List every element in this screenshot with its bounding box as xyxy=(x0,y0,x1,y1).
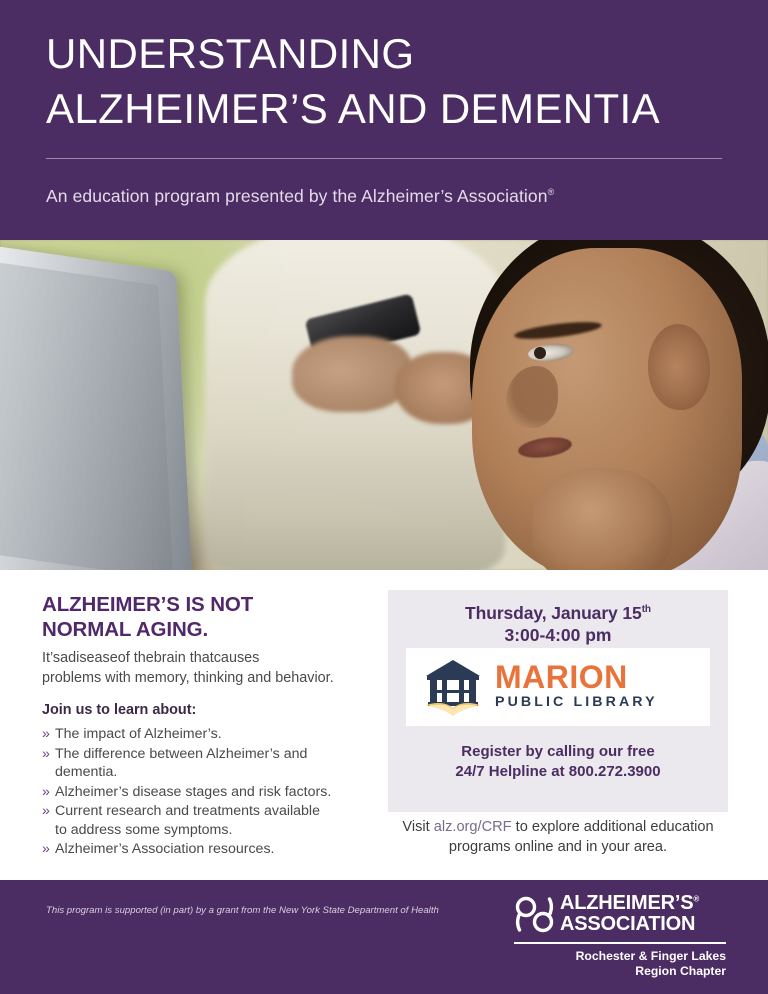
page-title: UNDERSTANDING ALZHEIMER’S AND DEMENTIA xyxy=(46,26,726,137)
chevron-bullet-icon: » xyxy=(42,802,50,821)
flyer-header: UNDERSTANDING ALZHEIMER’S AND DEMENTIA A… xyxy=(0,0,768,240)
list-item: »Alzheimer’s disease stages and risk fac… xyxy=(42,783,378,802)
photo-woman-pupil xyxy=(534,347,546,359)
learn-list: »The impact of Alzheimer’s. »The differe… xyxy=(42,725,378,859)
list-item-label: Current research and treatments availabl… xyxy=(55,803,320,838)
header-subtitle: An education program presented by the Al… xyxy=(46,186,554,207)
event-date-text: Thursday, January 15 xyxy=(465,603,642,623)
photo-woman-ear xyxy=(648,324,710,410)
gazebo-with-open-book-icon xyxy=(420,656,486,718)
photo-woman-fist xyxy=(532,468,672,570)
event-time: 3:00-4:00 pm xyxy=(406,624,710,647)
chevron-bullet-icon: » xyxy=(42,783,50,802)
flyer-page: UNDERSTANDING ALZHEIMER’S AND DEMENTIA A… xyxy=(0,0,768,994)
list-item: »Alzheimer’s Association resources. xyxy=(42,840,378,859)
alz-org-link[interactable]: alz.org/CRF xyxy=(434,819,512,835)
chevron-bullet-icon: » xyxy=(42,745,50,764)
assoc-logo-top: ALZHEIMER’S® ASSOCIATION xyxy=(514,892,726,936)
list-item-label: Alzheimer’s Association resources. xyxy=(55,841,274,857)
chevron-bullet-icon: » xyxy=(42,725,50,744)
venue-wordmark: MARION PUBLIC LIBRARY xyxy=(495,662,658,711)
list-item-label: The impact of Alzheimer’s. xyxy=(55,726,222,742)
registered-mark: ® xyxy=(548,187,555,197)
assoc-chapter-name: Rochester & Finger Lakes Region Chapter xyxy=(514,949,726,980)
main-content: ALZHEIMER’S IS NOT NORMAL AGING. It’sadi… xyxy=(0,570,768,880)
list-item: »Current research and treatments availab… xyxy=(42,802,378,840)
lead-heading: ALZHEIMER’S IS NOT NORMAL AGING. xyxy=(42,592,378,642)
list-item: »The impact of Alzheimer’s. xyxy=(42,725,378,744)
list-item: »The difference between Alzheimer’s and … xyxy=(42,745,378,783)
hero-photo xyxy=(0,240,768,570)
flyer-footer: This program is supported (in part) by a… xyxy=(0,880,768,994)
venue-name-sub: PUBLIC LIBRARY xyxy=(495,694,658,711)
event-details-panel: Thursday, January 15th 3:00-4:00 pm xyxy=(388,590,728,812)
photo-hand-left xyxy=(292,336,412,412)
venue-name-main: MARION xyxy=(495,659,628,695)
venue-logo: MARION PUBLIC LIBRARY xyxy=(406,648,710,726)
chevron-bullet-icon: » xyxy=(42,840,50,859)
learn-list-heading: Join us to learn about: xyxy=(42,702,378,718)
register-instructions: Register by calling our free 24/7 Helpli… xyxy=(388,742,728,783)
list-item-label: The difference between Alzheimer’s and d… xyxy=(55,746,307,781)
assoc-logo-divider xyxy=(514,942,726,944)
event-date: Thursday, January 15th xyxy=(406,602,710,625)
alzheimers-association-logo: ALZHEIMER’S® ASSOCIATION Rochester & Fin… xyxy=(514,892,726,979)
assoc-name-line2: ASSOCIATION xyxy=(560,914,699,934)
registered-mark: ® xyxy=(693,895,699,904)
hero-photo-scene xyxy=(0,240,768,570)
lead-body: It’sadiseaseof thebrain thatcauses probl… xyxy=(42,649,378,688)
visit-prefix: Visit xyxy=(402,819,433,835)
assoc-name-line1-text: ALZHEIMER’S xyxy=(560,892,693,914)
visit-website-line: Visit alz.org/CRF to explore additional … xyxy=(388,818,728,858)
list-item-label: Alzheimer’s disease stages and risk fact… xyxy=(55,784,331,800)
info-column: ALZHEIMER’S IS NOT NORMAL AGING. It’sadi… xyxy=(42,592,378,860)
grant-disclaimer: This program is supported (in part) by a… xyxy=(46,905,476,917)
assoc-wordmark: ALZHEIMER’S® ASSOCIATION xyxy=(560,894,699,934)
header-divider xyxy=(46,158,722,159)
photo-laptop-screen xyxy=(0,259,173,570)
photo-laptop xyxy=(0,241,193,570)
alzheimers-association-people-icon xyxy=(514,894,556,936)
event-date-suffix: th xyxy=(642,604,651,615)
header-subtitle-text: An education program presented by the Al… xyxy=(46,186,548,206)
assoc-name-line1: ALZHEIMER’S® xyxy=(560,894,699,914)
